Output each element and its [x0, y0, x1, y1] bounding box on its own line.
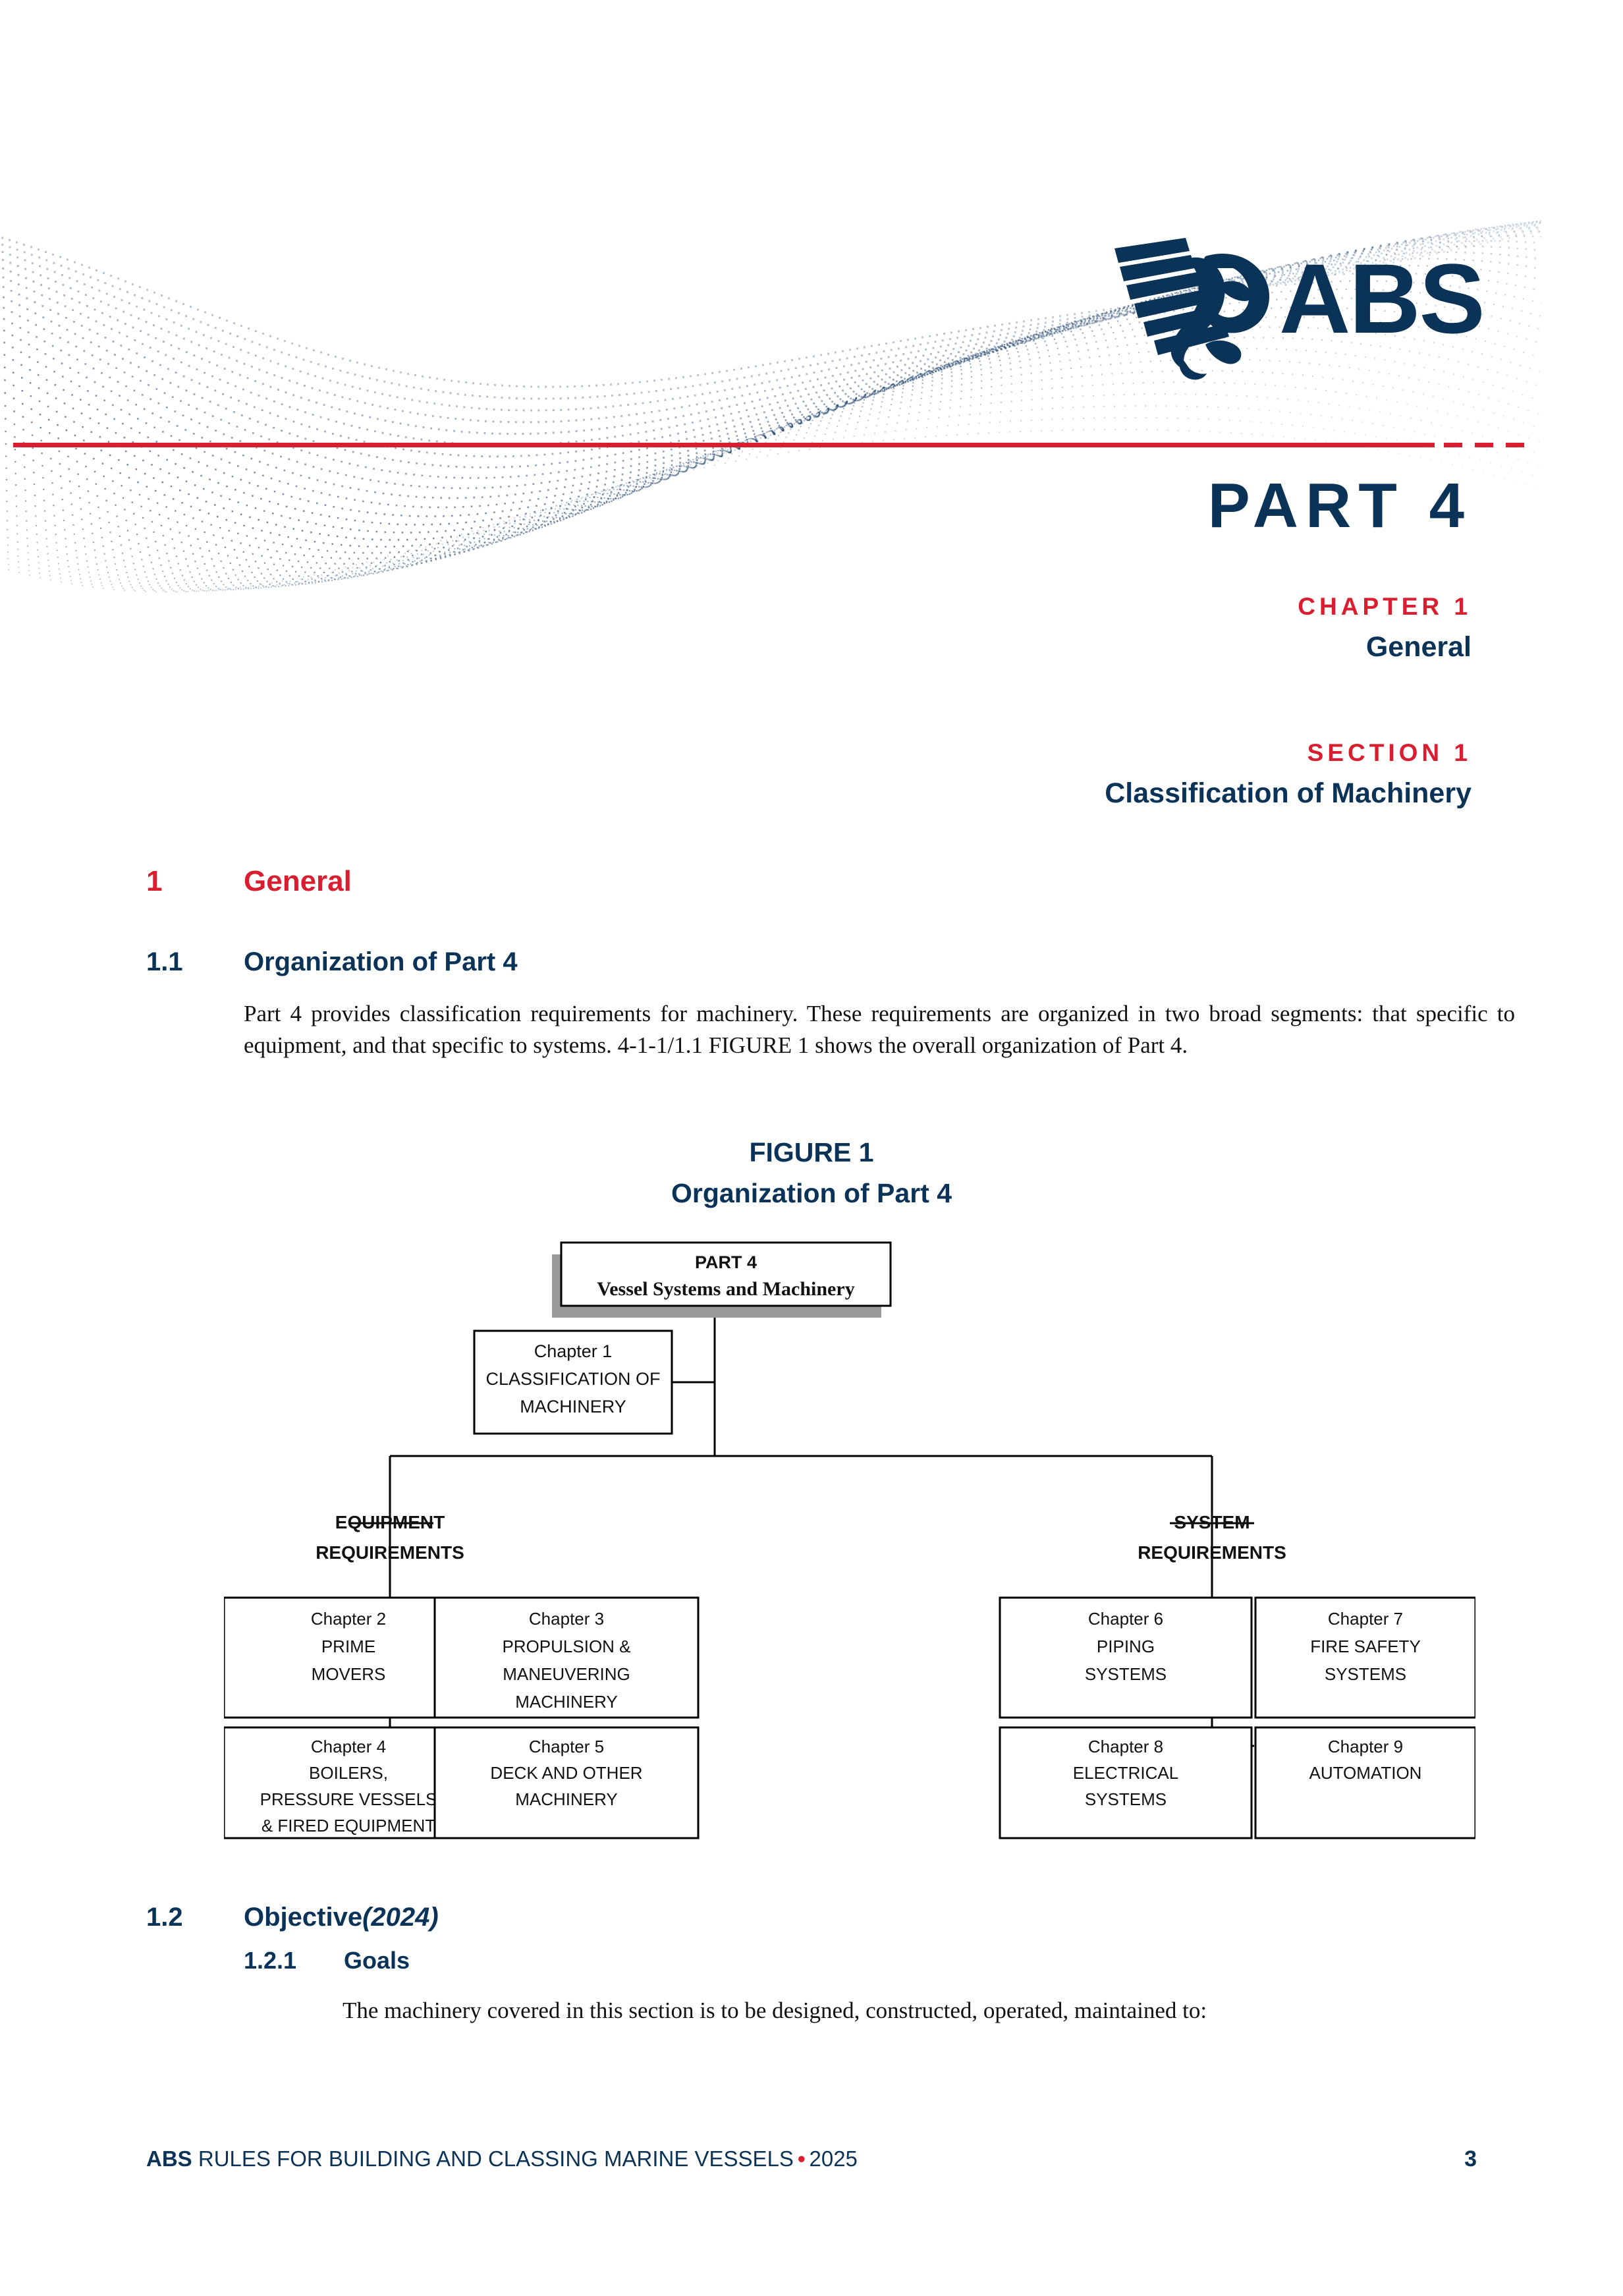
branch-right-line1: SYSTEM	[1174, 1512, 1250, 1532]
figure-label: FIGURE 1	[0, 1132, 1623, 1173]
footer-left: ABS RULES FOR BUILDING AND CLASSING MARI…	[146, 2146, 858, 2171]
chapter2-num: Chapter 2	[311, 1609, 386, 1629]
branch-right-line2: REQUIREMENTS	[1138, 1542, 1286, 1563]
chapter7-line-1: SYSTEMS	[1325, 1664, 1406, 1684]
chapter9-num: Chapter 9	[1328, 1737, 1403, 1756]
section-label: SECTION 1	[1307, 739, 1472, 767]
paragraph-goals: The machinery covered in this section is…	[343, 1995, 1515, 2027]
part-title: PART 4	[1208, 474, 1472, 538]
chapter-name: General	[1366, 631, 1472, 663]
chapter8-line-0: ELECTRICAL	[1073, 1763, 1178, 1783]
chapter6-line-1: SYSTEMS	[1085, 1664, 1167, 1684]
header-red-rule	[13, 443, 1435, 447]
chapter-label: CHAPTER 1	[1298, 593, 1472, 621]
chapter8-line-1: SYSTEMS	[1085, 1789, 1167, 1809]
chapter4-line-0: BOILERS,	[309, 1763, 388, 1783]
heading-1-1-title: Organization of Part 4	[244, 947, 518, 976]
chapter5-line-1: MACHINERY	[515, 1789, 618, 1809]
chapter3-line-2: MACHINERY	[515, 1692, 618, 1712]
chapter5-line-0: DECK AND OTHER	[490, 1763, 642, 1783]
abs-logo: ABS	[1107, 234, 1502, 385]
chapter3-line-1: MANEUVERING	[503, 1664, 630, 1684]
chapter3-num: Chapter 3	[529, 1609, 604, 1629]
header-red-dashes	[1444, 443, 1524, 447]
footer-text-spacer	[192, 2146, 198, 2171]
heading-1-2-year: (2024)	[362, 1903, 439, 1932]
chapter4-line-1: PRESSURE VESSELS	[260, 1789, 437, 1809]
chapter4-num: Chapter 4	[311, 1737, 386, 1756]
heading-1-2-1-number: 1.2.1	[244, 1947, 344, 1974]
document-page: ABS PART 4 CHAPTER 1 General SECTION 1 C…	[0, 0, 1623, 2296]
heading-1-2-title: Objective	[244, 1903, 362, 1932]
chapter2-line-1: MOVERS	[312, 1664, 386, 1684]
branch-left-line1: EQUIPMENT	[335, 1512, 445, 1532]
heading-1-2-1-title: Goals	[344, 1947, 410, 1974]
heading-1-number: 1	[146, 865, 244, 898]
heading-1-2-objective: 1.2Objective(2024)	[146, 1903, 439, 1932]
heading-1-2-1-goals: 1.2.1Goals	[244, 1947, 410, 1974]
chapter7-line-0: FIRE SAFETY	[1310, 1637, 1421, 1656]
chapter1-line1: Chapter 1	[534, 1341, 613, 1361]
chapter1-line3: MACHINERY	[520, 1397, 626, 1416]
heading-1-2-number: 1.2	[146, 1903, 244, 1932]
figure-caption: Organization of Part 4	[0, 1173, 1623, 1214]
chapter3-line-0: PROPULSION &	[502, 1637, 630, 1656]
paragraph-organization: Part 4 provides classification requireme…	[244, 998, 1515, 1061]
chapter6-num: Chapter 6	[1088, 1609, 1163, 1629]
footer-year: 2025	[810, 2146, 858, 2171]
branch-left-line2: REQUIREMENTS	[316, 1542, 464, 1563]
chapter2-line-0: PRIME	[321, 1637, 375, 1656]
chapter7-num: Chapter 7	[1328, 1609, 1403, 1629]
chapter1-line2: CLASSIFICATION OF	[485, 1369, 660, 1389]
figure-title: FIGURE 1 Organization of Part 4	[0, 1132, 1623, 1214]
footer-text: RULES FOR BUILDING AND CLASSING MARINE V…	[198, 2146, 794, 2171]
root-box-subtitle: Vessel Systems and Machinery	[597, 1278, 854, 1300]
chapter9-line-0: AUTOMATION	[1309, 1763, 1422, 1783]
chapter4-line-2: & FIRED EQUIPMENT	[261, 1816, 435, 1835]
chapter5-num: Chapter 5	[529, 1737, 604, 1756]
page-footer: ABS RULES FOR BUILDING AND CLASSING MARI…	[146, 2146, 1477, 2172]
page-number: 3	[1464, 2146, 1477, 2172]
section-name: Classification of Machinery	[1105, 777, 1472, 810]
chapter6-line-0: PIPING	[1097, 1637, 1155, 1656]
heading-1-1-number: 1.1	[146, 947, 244, 977]
heading-1-1-organization: 1.1Organization of Part 4	[146, 947, 518, 977]
organization-diagram: PART 4 Vessel Systems and Machinery Chap…	[224, 1239, 1475, 1871]
footer-separator: •	[794, 2146, 810, 2171]
heading-1-general: 1General	[146, 865, 352, 898]
root-box-title: PART 4	[695, 1252, 757, 1272]
footer-brand: ABS	[146, 2146, 192, 2171]
heading-1-title: General	[244, 865, 352, 897]
chapter8-num: Chapter 8	[1088, 1737, 1163, 1756]
